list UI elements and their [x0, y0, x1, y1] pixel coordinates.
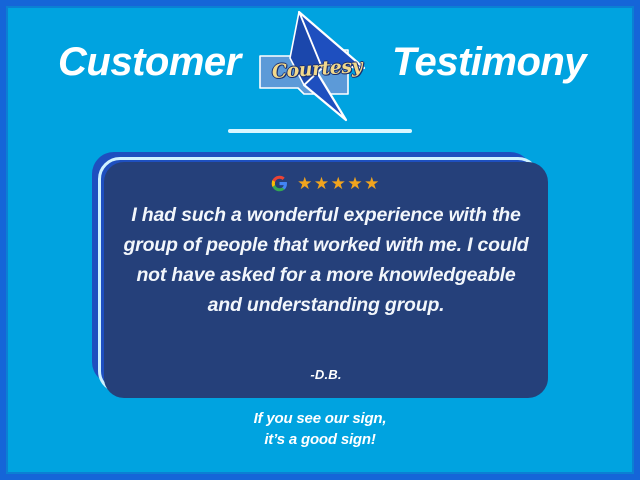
footer-tagline: If you see our sign, it’s a good sign!	[0, 408, 640, 450]
testimonial-quote: I had such a wonderful experience with t…	[120, 200, 532, 320]
title-word-testimony: Testimony	[392, 34, 586, 90]
star-rating: ★★★★★	[297, 175, 381, 192]
title-divider	[228, 129, 412, 133]
title-word-customer: Customer	[58, 34, 241, 90]
testimonial-attribution: -D.B.	[104, 367, 548, 382]
footer-tagline-line2: it’s a good sign!	[0, 429, 640, 450]
rating-row: ★★★★★	[104, 175, 548, 192]
courtesy-logo: Courtesy	[252, 6, 388, 126]
google-g-icon	[271, 175, 288, 192]
testimonial-card: ★★★★★ I had such a wonderful experience …	[92, 152, 548, 398]
testimonial-slide: Customer Testimony Courtesy	[0, 0, 640, 480]
card-face: ★★★★★ I had such a wonderful experience …	[104, 162, 548, 398]
courtesy-arrow-icon	[252, 6, 388, 126]
footer-tagline-line1: If you see our sign,	[0, 408, 640, 429]
